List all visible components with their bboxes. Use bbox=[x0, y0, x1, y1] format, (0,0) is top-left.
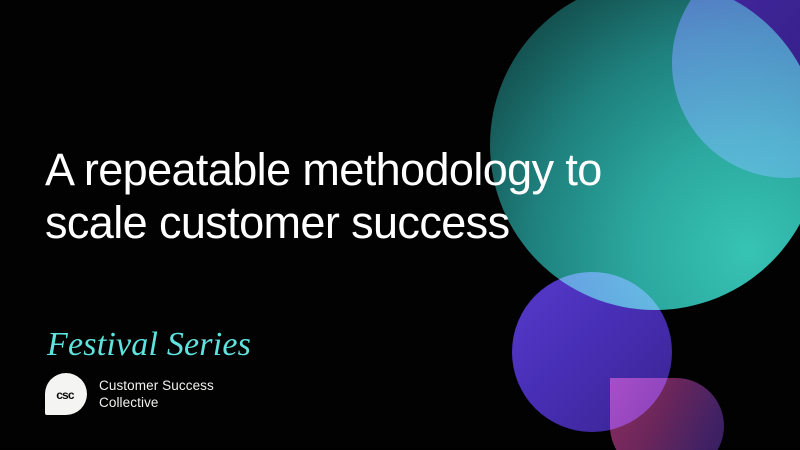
slide-headline: A repeatable methodology to scale custom… bbox=[45, 143, 705, 249]
brand-wordmark: Customer Success Collective bbox=[99, 377, 214, 411]
presentation-slide: A repeatable methodology to scale custom… bbox=[0, 0, 800, 450]
brand-logo-lockup: csc Customer Success Collective bbox=[45, 373, 214, 415]
slide-content: A repeatable methodology to scale custom… bbox=[0, 0, 800, 450]
csc-logo-icon: csc bbox=[45, 373, 87, 415]
series-label: Festival Series bbox=[47, 326, 251, 364]
csc-logo-monogram: csc bbox=[56, 388, 74, 402]
